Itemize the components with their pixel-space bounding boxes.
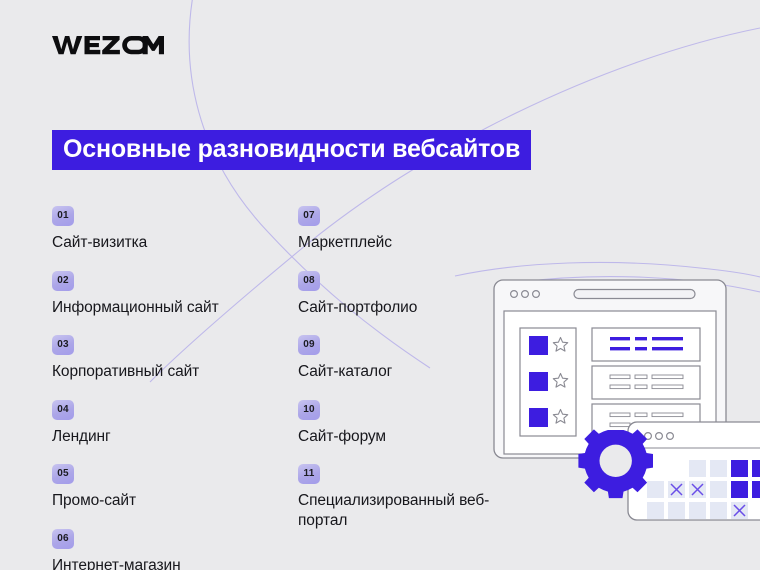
content-row — [592, 366, 700, 399]
item-number-badge: 08 — [298, 271, 320, 291]
content-bar — [652, 413, 683, 417]
illustration-browser-windows-gear — [480, 270, 760, 570]
grid-tile — [689, 460, 706, 477]
grid-tile — [710, 502, 727, 519]
wezom-wordmark-icon — [52, 32, 164, 58]
list-item: 11 Специализированный веб-портал — [298, 463, 508, 530]
content-bar — [610, 413, 630, 417]
item-label: Маркетплейс — [298, 233, 508, 253]
item-label: Сайт-форум — [298, 427, 508, 447]
content-bar — [610, 337, 630, 340]
content-bar — [652, 385, 683, 389]
grid-tile-filled — [731, 481, 748, 498]
content-bar — [610, 347, 630, 350]
item-number-badge: 06 — [52, 529, 74, 549]
item-number-badge: 07 — [298, 206, 320, 226]
item-number-badge: 09 — [298, 335, 320, 355]
grid-tile — [668, 502, 685, 519]
list-item: 09 Сайт-каталог — [298, 334, 508, 382]
x-mark-icon — [731, 502, 748, 519]
grid-tile — [689, 502, 706, 519]
gear-icon — [578, 429, 653, 498]
grid-tile — [710, 481, 727, 498]
wezom-logo — [52, 30, 164, 60]
x-mark-icon — [668, 481, 685, 498]
item-label: Сайт-визитка — [52, 233, 292, 253]
grid-tile-filled — [731, 460, 748, 477]
list-item: 06 Интернет-магазин — [52, 528, 292, 570]
item-label: Интернет-магазин — [52, 556, 292, 570]
list-item: 01 Сайт-визитка — [52, 205, 292, 253]
gear-center-hole — [600, 445, 632, 477]
content-bar — [610, 375, 630, 379]
grid-tile — [647, 481, 664, 498]
item-label: Сайт-каталог — [298, 362, 508, 382]
thumbnail-tile — [529, 336, 548, 355]
address-bar — [574, 290, 695, 299]
list-item: 10 Сайт-форум — [298, 399, 508, 447]
grid-tile — [710, 460, 727, 477]
content-row-frame — [592, 328, 700, 361]
content-bar — [635, 385, 647, 389]
item-label: Специализированный веб-портал — [298, 491, 508, 530]
list-item: 03 Корпоративный сайт — [52, 334, 292, 382]
list-item: 05 Промо-сайт — [52, 463, 292, 511]
content-bar — [635, 337, 647, 340]
content-bar — [635, 375, 647, 379]
content-bar — [652, 337, 683, 340]
tile-grid-row — [647, 502, 748, 519]
content-bar — [610, 423, 630, 427]
content-row-highlighted — [592, 328, 700, 361]
list-item: 07 Маркетплейс — [298, 205, 508, 253]
content-bar — [652, 347, 683, 350]
content-bar — [610, 385, 630, 389]
list-item: 04 Лендинг — [52, 399, 292, 447]
item-number-badge: 11 — [298, 464, 320, 484]
browser-window-front — [628, 422, 760, 520]
x-mark-icon — [689, 481, 706, 498]
item-number-badge: 02 — [52, 271, 74, 291]
grid-tile-filled — [752, 481, 760, 498]
thumbnail-tile — [529, 372, 548, 391]
content-row-frame — [592, 366, 700, 399]
item-label: Корпоративный сайт — [52, 362, 292, 382]
item-number-badge: 10 — [298, 400, 320, 420]
content-bar — [635, 413, 647, 417]
item-number-badge: 03 — [52, 335, 74, 355]
item-label: Промо-сайт — [52, 491, 292, 511]
page-title: Основные разновидности вебсайтов — [52, 130, 531, 170]
item-number-badge: 05 — [52, 464, 74, 484]
item-label: Лендинг — [52, 427, 292, 447]
website-types-column-left: 01 Сайт-визитка 02 Информационный сайт 0… — [52, 205, 292, 570]
content-bar — [652, 375, 683, 379]
item-number-badge: 04 — [52, 400, 74, 420]
list-item: 02 Информационный сайт — [52, 270, 292, 318]
grid-tile-filled — [752, 460, 760, 477]
content-bar — [635, 347, 647, 350]
item-label: Сайт-портфолио — [298, 298, 508, 318]
list-item: 08 Сайт-портфолио — [298, 270, 508, 318]
website-types-column-right: 07 Маркетплейс 08 Сайт-портфолио 09 Сайт… — [298, 205, 508, 530]
item-label: Информационный сайт — [52, 298, 292, 318]
item-number-badge: 01 — [52, 206, 74, 226]
grid-tile — [647, 502, 664, 519]
tile-grid-row — [647, 481, 760, 498]
thumbnail-tile — [529, 408, 548, 427]
